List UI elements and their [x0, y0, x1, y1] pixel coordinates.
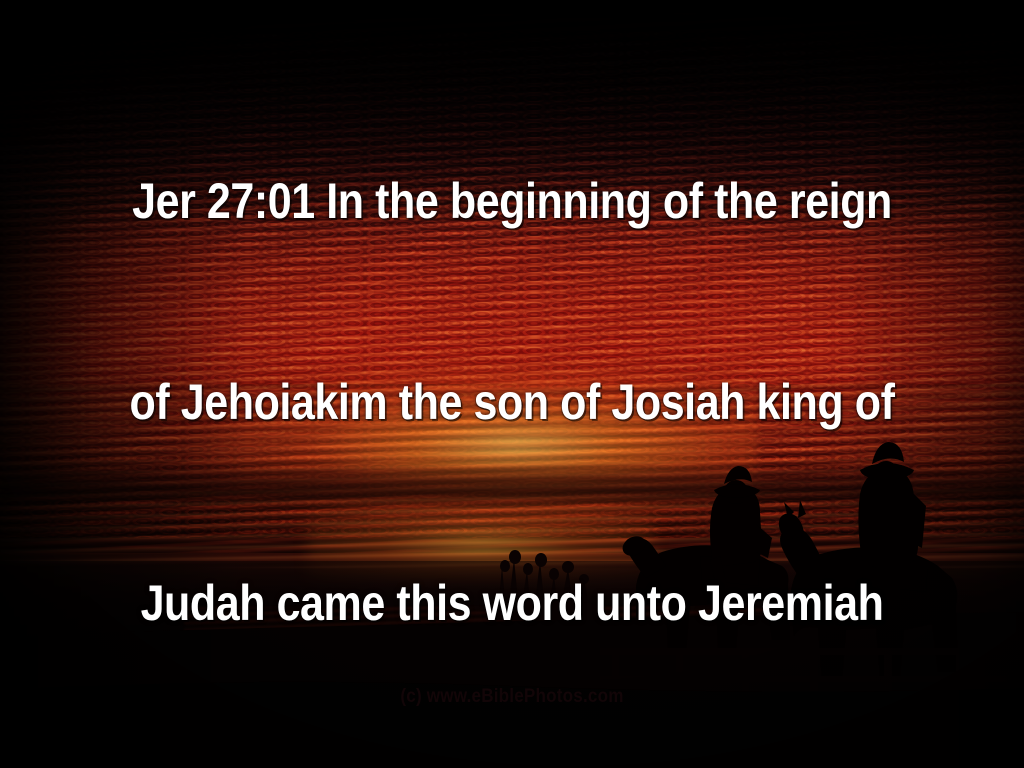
verse-line-2: of Jehoiakim the son of Josiah king of: [72, 369, 953, 436]
scripture-verse-text: Jer 27:01 In the beginning of the reign …: [72, 34, 953, 768]
scripture-photo-canvas: Jer 27:01 In the beginning of the reign …: [0, 0, 1024, 768]
verse-line-1: Jer 27:01 In the beginning of the reign: [72, 168, 953, 235]
verse-line-3: Judah came this word unto Jeremiah: [72, 570, 953, 637]
